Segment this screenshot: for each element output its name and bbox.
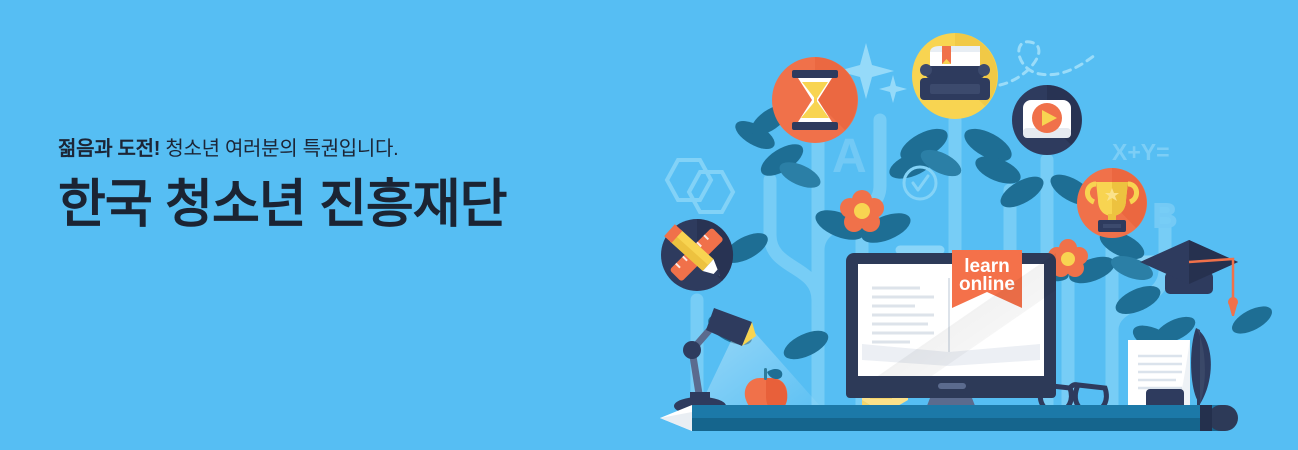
page-title: 한국 청소년 진흥재단 — [58, 174, 578, 236]
pencil-desk-icon — [660, 405, 1238, 431]
letter-b: B — [1152, 195, 1178, 236]
equation-label: X+Y= — [1112, 139, 1170, 165]
hourglass-badge — [772, 57, 858, 143]
banner-kicker: 젊음과 도전! 청소년 여러분의 특권입니다. — [58, 136, 578, 162]
kicker-strong: 젊음과 도전! — [58, 138, 160, 160]
promo-banner: A B X+Y= — [0, 0, 1298, 450]
stationery-badge — [661, 219, 733, 291]
kicker-light: 청소년 여러분의 특권입니다. — [165, 138, 398, 160]
typewriter-badge — [912, 33, 998, 119]
quill-paper-icon — [1128, 328, 1211, 418]
trophy-badge — [1077, 168, 1147, 238]
letter-a: A — [832, 130, 867, 183]
video-badge — [1012, 85, 1082, 155]
banner-text-block: 젊음과 도전! 청소년 여러분의 특권입니다. 한국 청소년 진흥재단 — [58, 136, 578, 236]
